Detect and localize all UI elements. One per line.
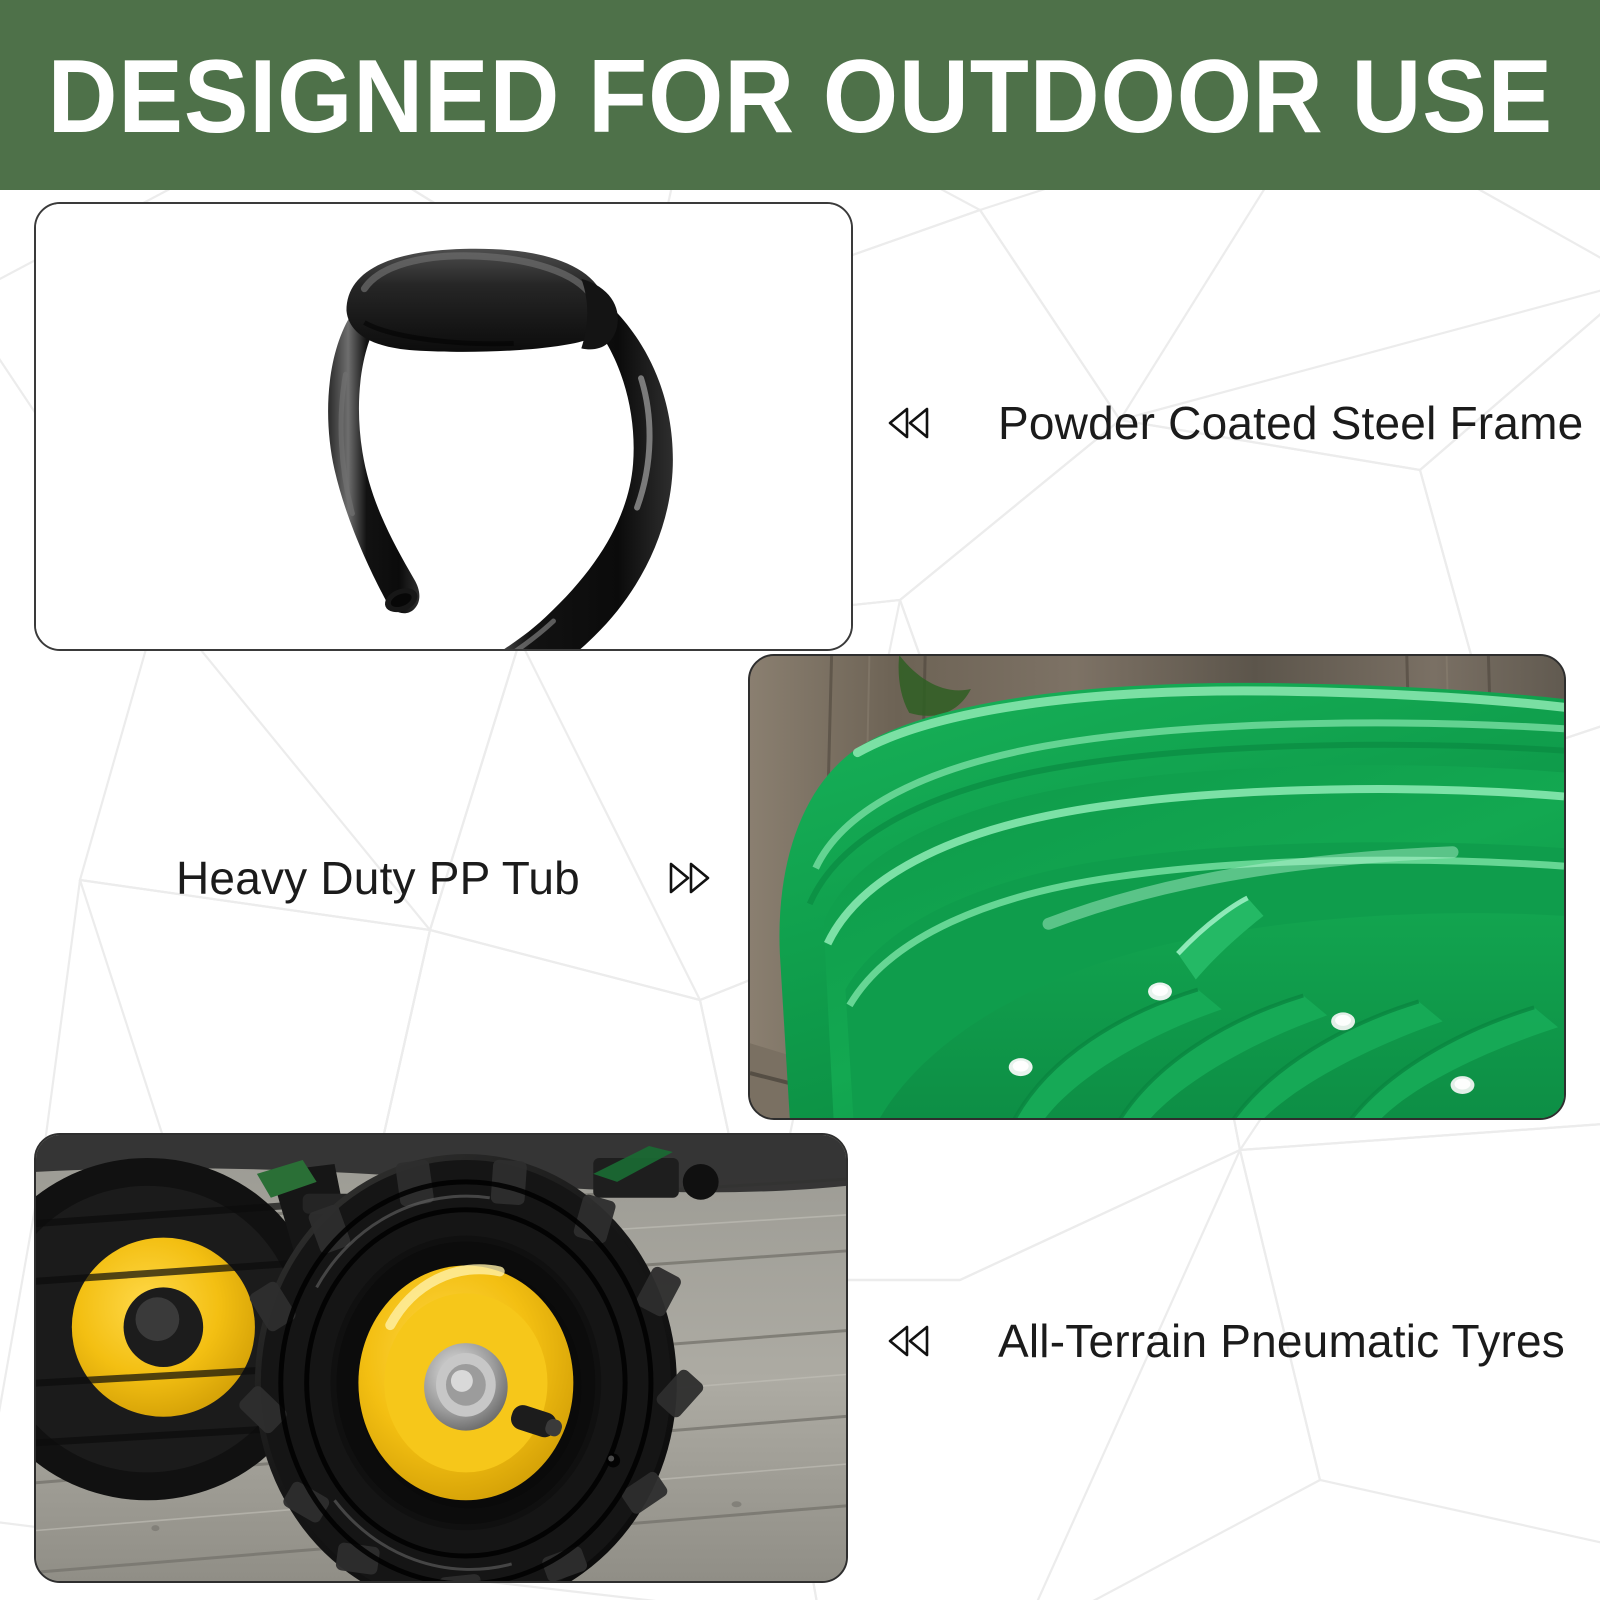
header-banner: DESIGNED FOR OUTDOOR USE <box>0 0 1600 190</box>
powder-coated-handle-photo <box>34 202 853 651</box>
page-title: DESIGNED FOR OUTDOOR USE <box>47 45 1552 149</box>
callout-label: Powder Coated Steel Frame <box>998 400 1583 446</box>
tub-illustration <box>750 656 1564 1118</box>
double-chevron-left-icon <box>886 1323 932 1359</box>
pneumatic-tyre-photo <box>34 1133 848 1583</box>
tyre-illustration <box>36 1135 846 1581</box>
handle-illustration <box>36 204 851 649</box>
infographic-page: DESIGNED FOR OUTDOOR USE <box>0 0 1600 1600</box>
callout-label: All-Terrain Pneumatic Tyres <box>998 1318 1565 1364</box>
callout-all-terrain-pneumatic-tyres: All-Terrain Pneumatic Tyres <box>886 1318 1565 1364</box>
callout-label: Heavy Duty PP Tub <box>176 855 580 901</box>
callout-powder-coated-steel-frame: Powder Coated Steel Frame <box>886 400 1583 446</box>
double-chevron-left-icon <box>886 405 932 441</box>
green-pp-tub-photo <box>748 654 1566 1120</box>
double-chevron-right-icon <box>666 860 712 896</box>
callout-heavy-duty-pp-tub: Heavy Duty PP Tub <box>176 855 712 901</box>
